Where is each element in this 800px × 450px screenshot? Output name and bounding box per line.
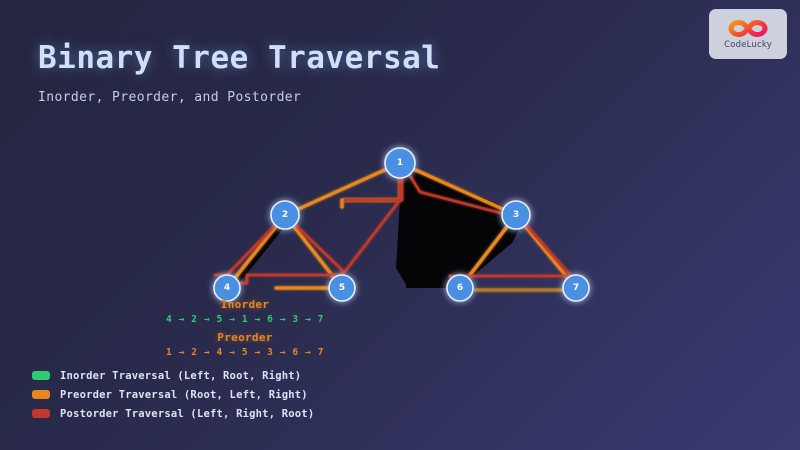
tree-node-6-label: 6 <box>457 283 463 293</box>
postorder-seg-4 <box>340 166 400 278</box>
legend-label-postorder: Postorder Traversal (Left, Right, Root) <box>60 408 314 420</box>
sequence-preorder-title: Preorder <box>130 331 360 344</box>
tree-node-7-label: 7 <box>573 283 579 293</box>
sequence-preorder: Preorder 1 → 2 → 4 → 5 → 3 → 6 → 7 <box>130 331 360 358</box>
tree-node-2[interactable]: 2 <box>271 201 299 229</box>
postorder-path <box>215 166 580 298</box>
traversal-sweep-shapes <box>227 163 528 288</box>
tree-node-7[interactable]: 7 <box>563 275 589 301</box>
traversal-sequences: Inorder 4 → 2 → 5 → 1 → 6 → 3 → 7 Preord… <box>130 298 360 364</box>
legend-swatch-postorder <box>32 409 50 418</box>
tree-node-1[interactable]: 1 <box>385 148 415 178</box>
sequence-inorder: Inorder 4 → 2 → 5 → 1 → 6 → 3 → 7 <box>130 298 360 325</box>
legend-item-inorder[interactable]: Inorder Traversal (Left, Root, Right) <box>32 366 314 385</box>
sequence-inorder-values: 4 → 2 → 5 → 1 → 6 → 3 → 7 <box>130 314 360 325</box>
legend-item-preorder[interactable]: Preorder Traversal (Root, Left, Right) <box>32 385 314 404</box>
tree-node-5-label: 5 <box>339 283 345 293</box>
preorder-seg-2 <box>227 163 400 288</box>
sequence-inorder-title: Inorder <box>130 298 360 311</box>
tree-node-3-label: 3 <box>513 210 519 220</box>
tree-node-2-label: 2 <box>282 210 288 220</box>
legend-swatch-inorder <box>32 371 50 380</box>
legend-label-preorder: Preorder Traversal (Root, Left, Right) <box>60 389 308 401</box>
legend-swatch-preorder <box>32 390 50 399</box>
legend-label-inorder: Inorder Traversal (Left, Root, Right) <box>60 370 301 382</box>
tree-node-6[interactable]: 6 <box>447 275 473 301</box>
sweep-left <box>227 163 400 288</box>
tree-node-3[interactable]: 3 <box>502 201 530 229</box>
slide-canvas: Binary Tree Traversal Inorder, Preorder,… <box>0 0 800 450</box>
legend-item-postorder[interactable]: Postorder Traversal (Left, Right, Root) <box>32 404 314 423</box>
tree-node-1-label: 1 <box>397 158 403 168</box>
legend: Inorder Traversal (Left, Root, Right) Pr… <box>32 366 314 423</box>
tree-node-4-label: 4 <box>224 283 230 293</box>
sequence-preorder-values: 1 → 2 → 4 → 5 → 3 → 6 → 7 <box>130 347 360 358</box>
